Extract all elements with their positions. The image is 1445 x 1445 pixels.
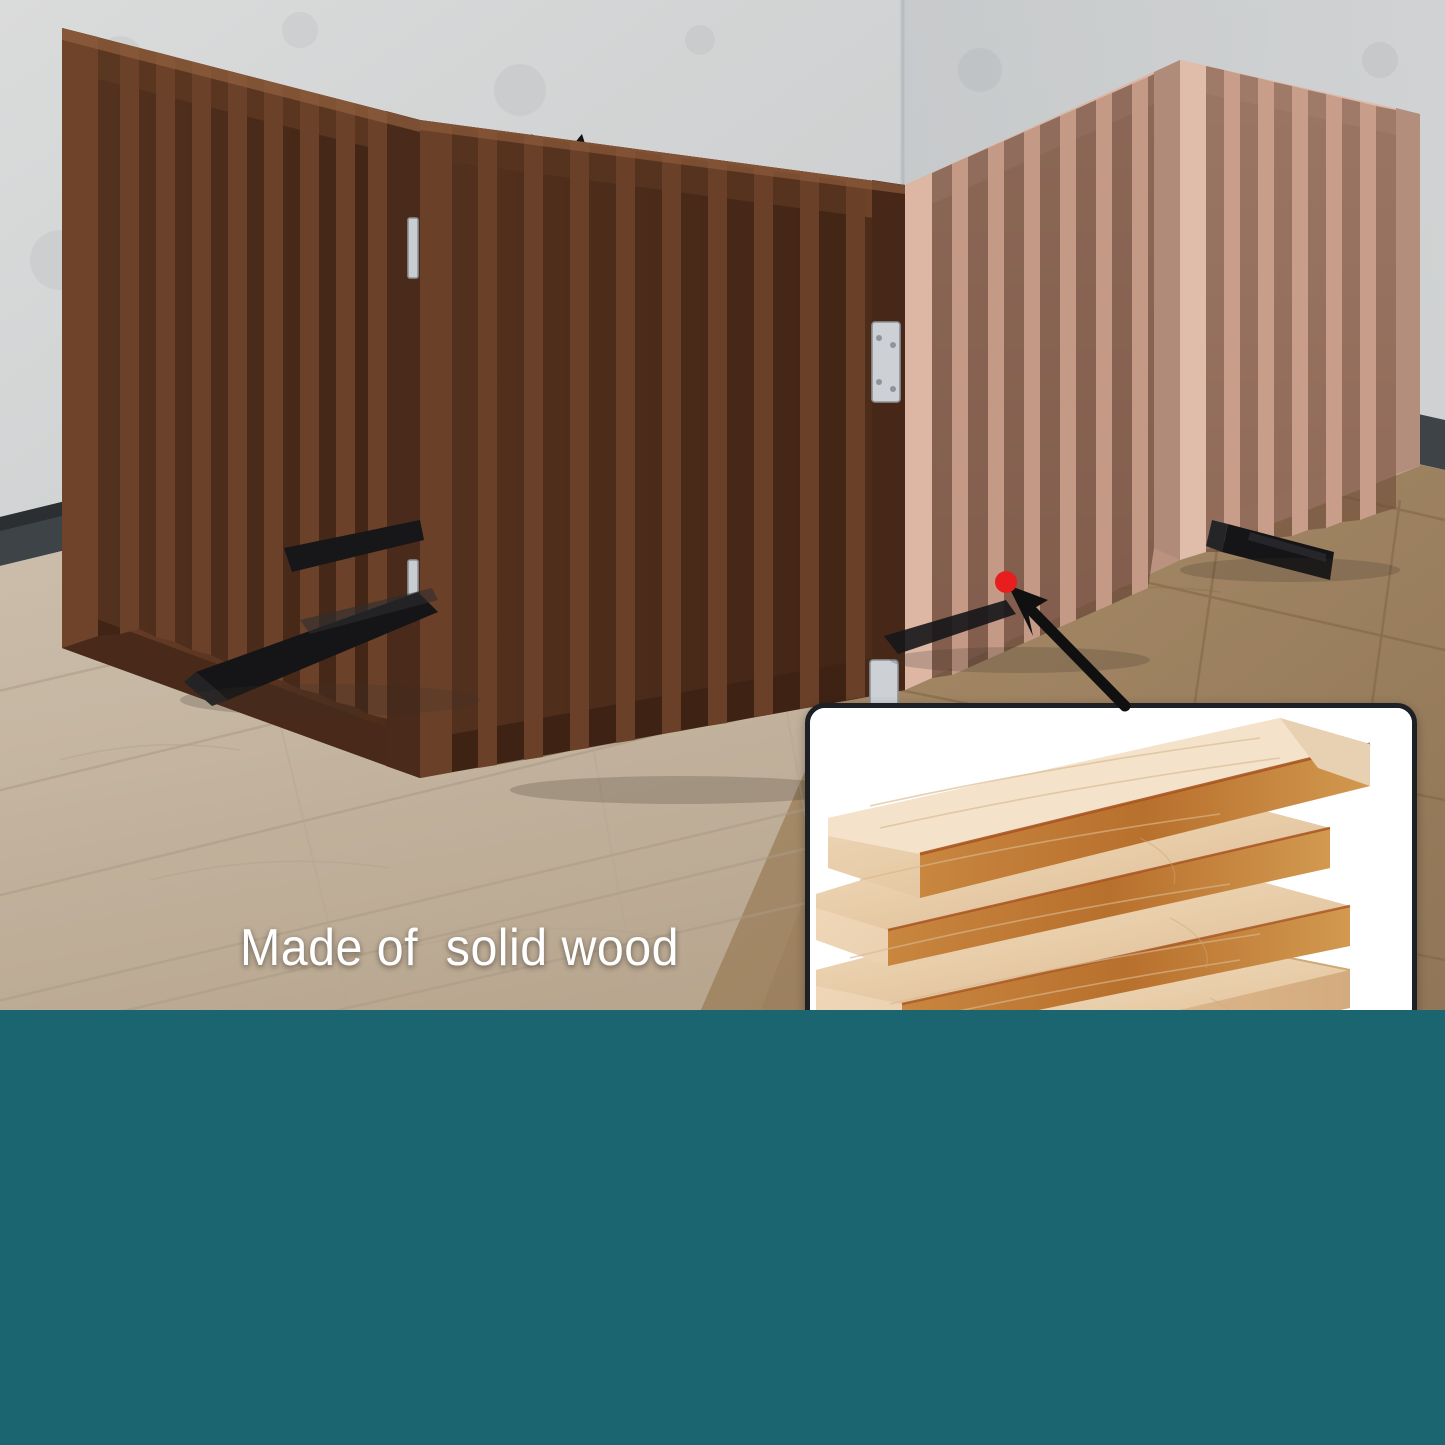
gate-panel-2 — [420, 120, 905, 778]
gate-panel-4 — [1180, 60, 1420, 560]
headline-made-of-solid-wood: Made of solid wood — [240, 918, 679, 978]
product-feature-image: Made of solid wood — [0, 0, 1445, 1445]
feature-list-band: 1. Limit your pet from running around 2.… — [0, 1010, 1445, 1445]
